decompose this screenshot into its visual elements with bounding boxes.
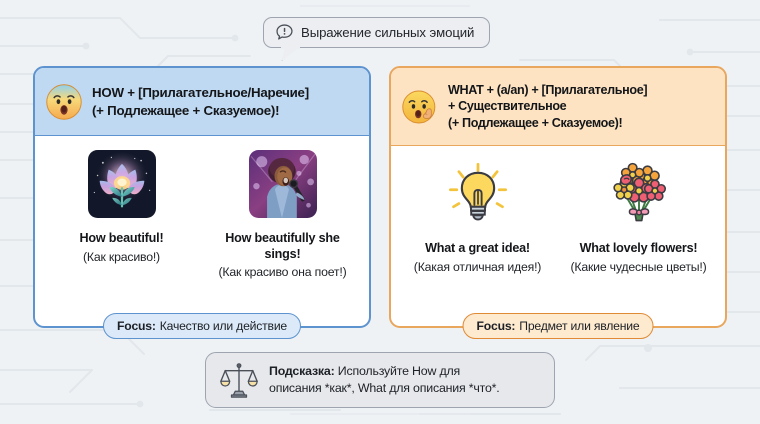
- topic-bubble-tail: [282, 47, 300, 61]
- focus-label: Focus:: [117, 319, 156, 333]
- card-how-body: How beautiful! (Как красиво!): [35, 136, 369, 326]
- example-how-2: How beautifully she sings! (Как красиво …: [202, 150, 363, 326]
- focus-badge-how: Focus: Качество или действие: [103, 313, 301, 339]
- example-ru-text: (Как красиво!): [83, 250, 160, 265]
- example-en-text: What a great idea!: [425, 241, 530, 257]
- example-what-2: What lovely flowers! (Какие чудесные цве…: [558, 160, 719, 326]
- focus-label: Focus:: [477, 319, 516, 333]
- tip-text: Подсказка: Используйте How для описания …: [269, 363, 500, 397]
- speech-balloon-exclamation-icon: [275, 23, 294, 42]
- card-what-formula: WHAT + (a/an) + [Прилагательное] + Сущес…: [448, 82, 647, 132]
- tip-label: Подсказка:: [269, 364, 335, 378]
- face-with-open-mouth-pointing-emoji: [401, 88, 439, 126]
- example-en-text: How beautiful!: [80, 231, 164, 247]
- focus-badge-what: Focus: Предмет или явление: [463, 313, 654, 339]
- formula-line: HOW + [Прилагательное/Наречие]: [92, 84, 309, 102]
- singer-with-microphone-thumbnail: [249, 150, 317, 218]
- tip-line-2: описания *как*, What для описания *что*.: [269, 381, 500, 395]
- formula-line: (+ Подлежащее + Сказуемое)!: [92, 102, 309, 120]
- glowing-lotus-flower-thumbnail: [88, 150, 156, 218]
- card-how: HOW + [Прилагательное/Наречие] (+ Подлеж…: [33, 66, 371, 328]
- topic-bubble: Выражение сильных эмоций: [263, 17, 490, 48]
- card-how-header: HOW + [Прилагательное/Наречие] (+ Подлеж…: [35, 68, 369, 136]
- card-what-header: WHAT + (a/an) + [Прилагательное] + Сущес…: [391, 68, 725, 146]
- card-what: WHAT + (a/an) + [Прилагательное] + Сущес…: [389, 66, 727, 328]
- infographic-canvas: Выражение сильных эмоций: [0, 0, 760, 424]
- balance-scales-icon: [219, 360, 259, 400]
- topic-bubble-tail-mask: [281, 44, 300, 49]
- tip-line-1: Используйте How для: [338, 364, 460, 378]
- formula-line: (+ Подлежащее + Сказуемое)!: [448, 115, 647, 132]
- example-ru-text: (Какие чудесные цветы!): [570, 260, 706, 275]
- focus-value: Предмет или явление: [519, 319, 639, 333]
- example-ru-text: (Как красиво она поет!): [219, 265, 347, 280]
- example-ru-text: (Какая отличная идея!): [414, 260, 541, 275]
- light-bulb-icon: [444, 160, 512, 228]
- example-how-1: How beautiful! (Как красиво!): [41, 150, 202, 326]
- formula-line: WHAT + (a/an) + [Прилагательное]: [448, 82, 647, 99]
- tip-box: Подсказка: Используйте How для описания …: [205, 352, 555, 408]
- example-what-1: What a great idea! (Какая отличная идея!…: [397, 160, 558, 326]
- astonished-face-emoji: [45, 83, 83, 121]
- example-en-text: What lovely flowers!: [580, 241, 698, 257]
- example-en-text: How beautifully she sings!: [206, 231, 359, 262]
- card-how-formula: HOW + [Прилагательное/Наречие] (+ Подлеж…: [92, 84, 309, 119]
- topic-title: Выражение сильных эмоций: [301, 25, 474, 40]
- focus-value: Качество или действие: [160, 319, 287, 333]
- bouquet-icon: [605, 160, 673, 228]
- formula-line: + Существительное: [448, 98, 647, 115]
- card-what-body: What a great idea! (Какая отличная идея!…: [391, 146, 725, 326]
